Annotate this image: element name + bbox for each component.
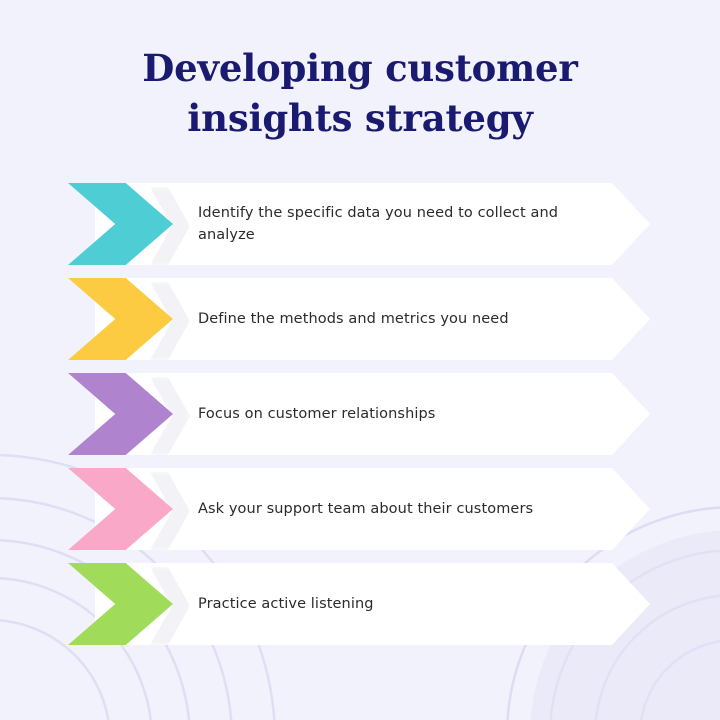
step-row[interactable]: Focus on customer relationships <box>0 373 720 455</box>
step-label: Identify the specific data you need to c… <box>198 183 608 265</box>
title-container: Developing customer insights strategy <box>0 44 720 143</box>
infographic-canvas: Developing customer insights strategy Id… <box>0 0 720 720</box>
step-label: Define the methods and metrics you need <box>198 278 608 360</box>
steps-list: Identify the specific data you need to c… <box>0 183 720 658</box>
step-row[interactable]: Practice active listening <box>0 563 720 645</box>
page-title: Developing customer insights strategy <box>60 44 660 143</box>
step-row[interactable]: Define the methods and metrics you need <box>0 278 720 360</box>
step-label: Practice active listening <box>198 563 608 645</box>
step-row[interactable]: Ask your support team about their custom… <box>0 468 720 550</box>
step-row[interactable]: Identify the specific data you need to c… <box>0 183 720 265</box>
step-label: Ask your support team about their custom… <box>198 468 608 550</box>
step-label: Focus on customer relationships <box>198 373 608 455</box>
